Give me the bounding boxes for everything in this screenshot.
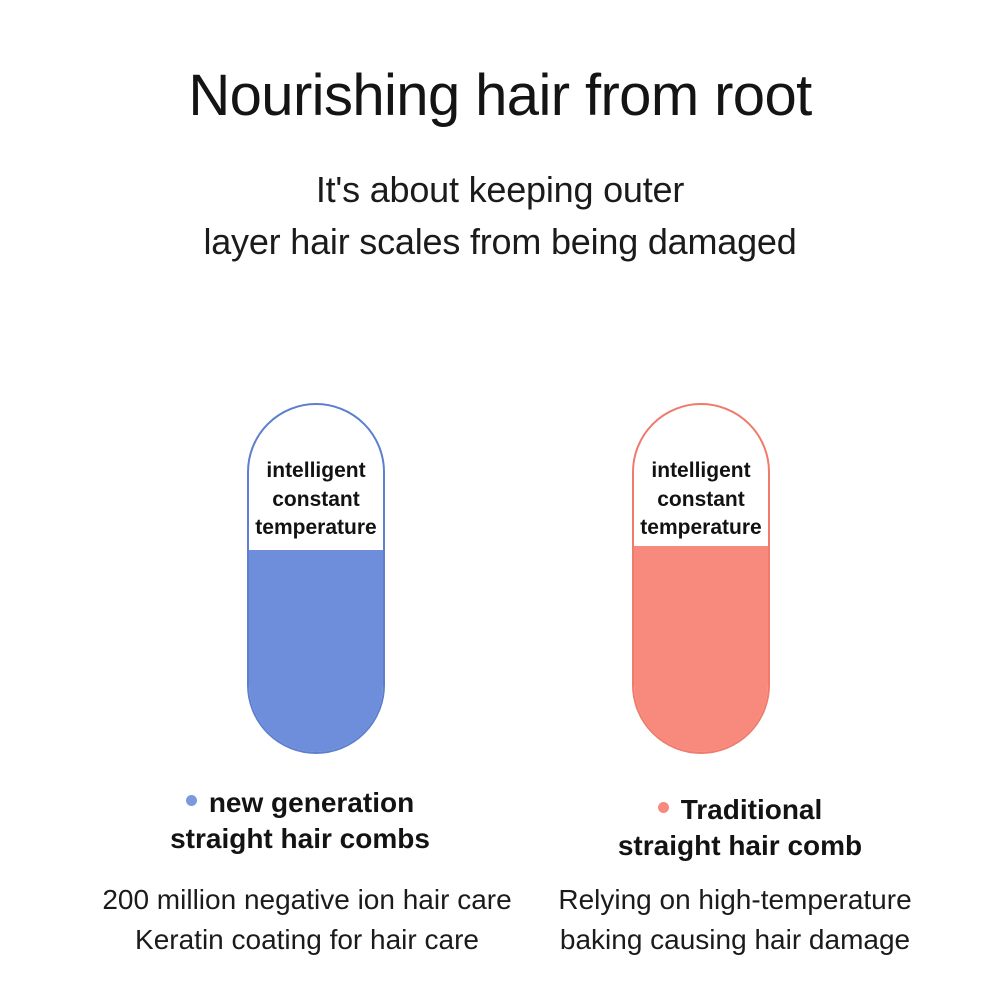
legend-label-primary: Traditional <box>681 794 823 825</box>
page-title: Nourishing hair from root <box>0 64 1000 129</box>
capsule-fill-blue <box>249 550 383 752</box>
description-traditional: Relying on high-temperature baking causi… <box>500 880 970 960</box>
description-line-2: Keratin coating for hair care <box>72 920 542 960</box>
capsule-label-line-2: constant <box>620 486 782 515</box>
legend-dot-pink-icon <box>658 802 669 813</box>
description-line-1: Relying on high-temperature <box>500 880 970 920</box>
page-subtitle: It's about keeping outer layer hair scal… <box>0 164 1000 268</box>
capsule-traditional: intelligent constant temperature <box>632 403 770 754</box>
capsule-fill-pink <box>634 546 768 752</box>
description-line-1: 200 million negative ion hair care <box>72 880 542 920</box>
legend-dot-blue-icon <box>186 795 197 806</box>
subtitle-line-1: It's about keeping outer <box>0 164 1000 216</box>
capsule-label-line-3: temperature <box>620 514 782 543</box>
legend-label-secondary: straight hair comb <box>520 828 960 864</box>
capsule-label-line-2: constant <box>235 486 397 515</box>
description-new-generation: 200 million negative ion hair care Kerat… <box>72 880 542 960</box>
legend-label-secondary: straight hair combs <box>80 821 520 857</box>
capsule-label-new-generation: intelligent constant temperature <box>235 457 397 543</box>
capsule-label-line-1: intelligent <box>235 457 397 486</box>
subtitle-line-2: layer hair scales from being damaged <box>0 216 1000 268</box>
capsule-label-traditional: intelligent constant temperature <box>620 457 782 543</box>
capsule-label-line-1: intelligent <box>620 457 782 486</box>
description-line-2: baking causing hair damage <box>500 920 970 960</box>
infographic-page: Nourishing hair from root It's about kee… <box>0 0 1000 1000</box>
capsule-new-generation: intelligent constant temperature <box>247 403 385 754</box>
legend-traditional: Traditional straight hair comb <box>520 792 960 864</box>
capsule-label-line-3: temperature <box>235 514 397 543</box>
legend-line-1: new generation <box>80 785 520 821</box>
legend-label-primary: new generation <box>209 787 414 818</box>
legend-line-1: Traditional <box>520 792 960 828</box>
legend-new-generation: new generation straight hair combs <box>80 785 520 857</box>
